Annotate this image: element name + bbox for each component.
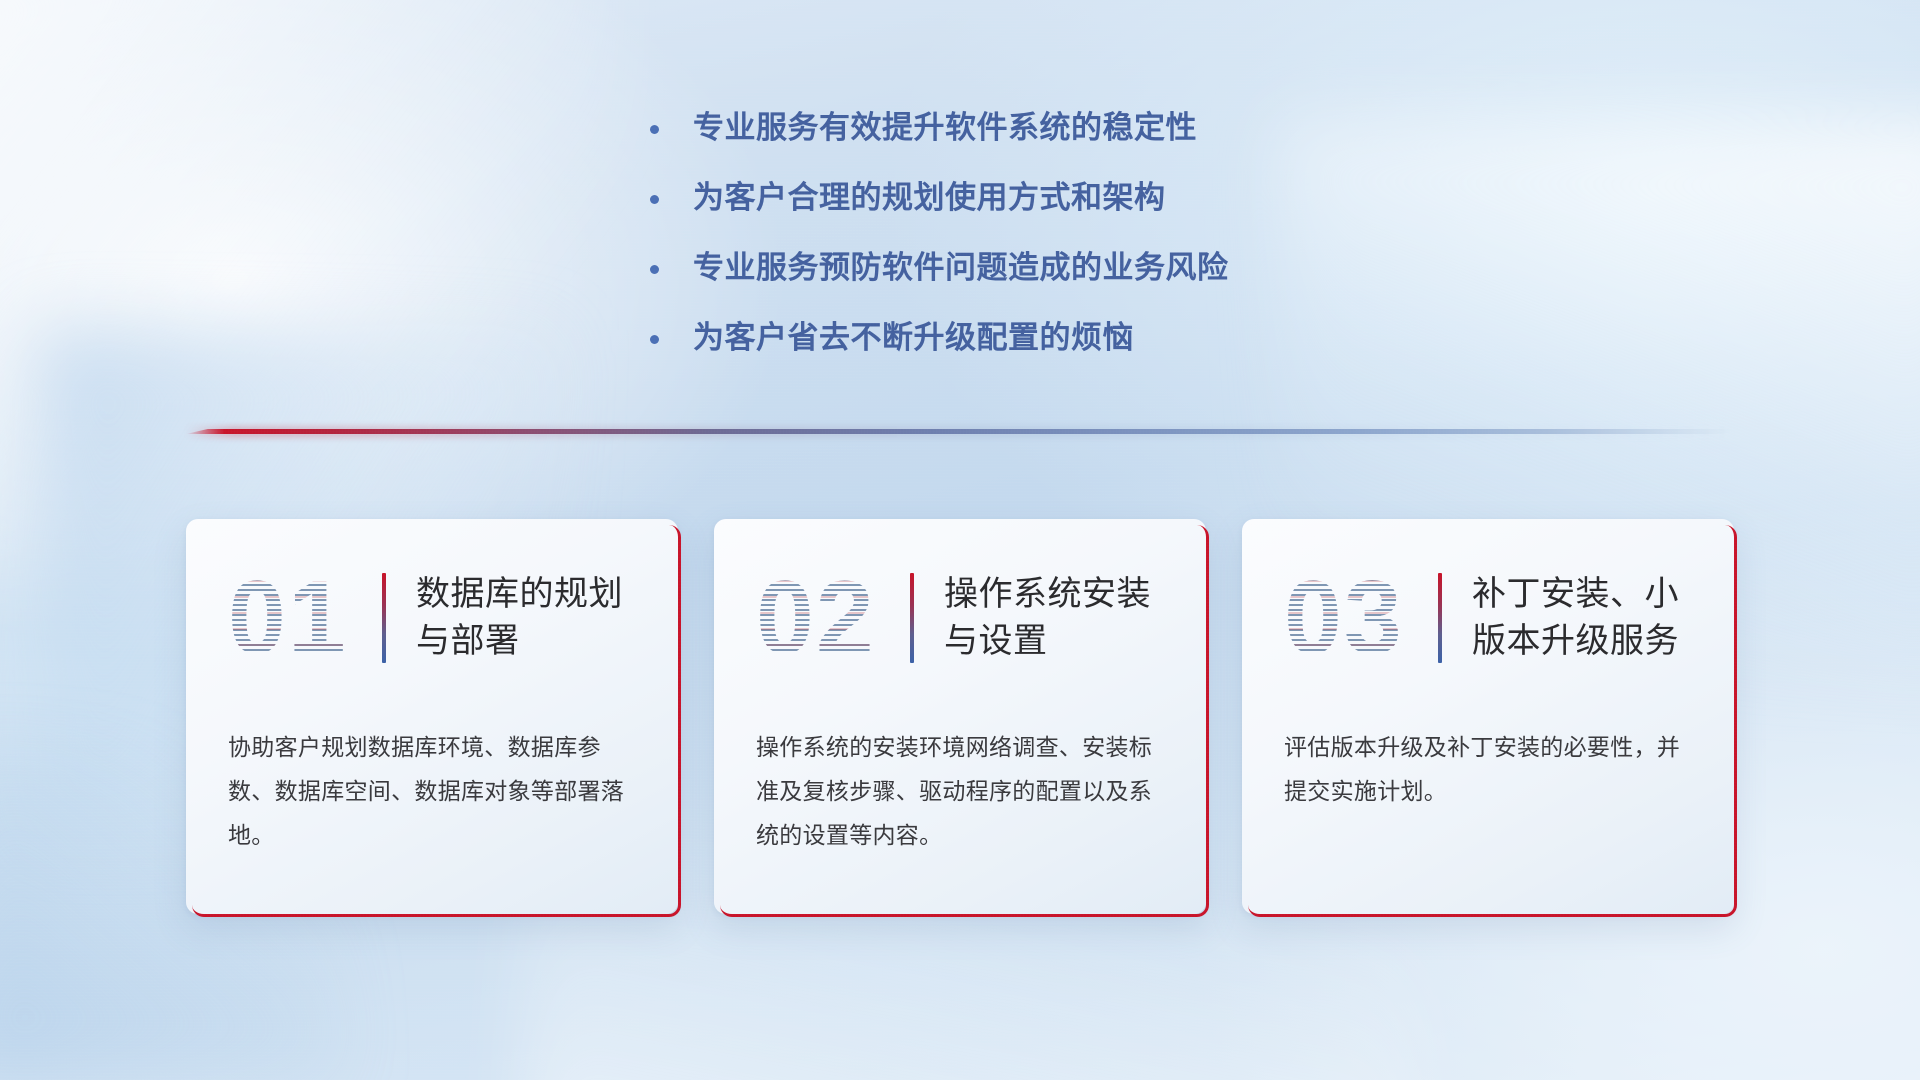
card-title: 补丁安装、小版本升级服务	[1472, 571, 1692, 665]
service-card-02[interactable]: 02 02 操作系统安装与设置 操作系统的安装环境网络调查、安装标准及复核步骤、…	[714, 519, 1206, 914]
card-number-tint: 01	[228, 564, 376, 672]
card-header: 02 02 操作系统安装与设置	[756, 559, 1164, 677]
card-description: 操作系统的安装环境网络调查、安装标准及复核步骤、驱动程序的配置以及系统的设置等内…	[756, 725, 1164, 857]
card-number-badge: 01 01	[228, 564, 376, 672]
bullet-dot-icon	[650, 335, 659, 344]
bullet-dot-icon	[650, 195, 659, 204]
card-header: 01 01 数据库的规划与部署	[228, 559, 636, 677]
bullet-list: 专业服务有效提升软件系统的稳定性 为客户合理的规划使用方式和架构 专业服务预防软…	[650, 108, 1470, 388]
card-title: 数据库的规划与部署	[416, 571, 636, 665]
card-number-badge: 03 03	[1284, 564, 1432, 672]
card-header: 03 03 补丁安装、小版本升级服务	[1284, 559, 1692, 677]
list-item: 专业服务预防软件问题造成的业务风险	[650, 248, 1470, 288]
service-card-03[interactable]: 03 03 补丁安装、小版本升级服务 评估版本升级及补丁安装的必要性，并提交实施…	[1242, 519, 1734, 914]
background-light-streak-top-left	[0, 0, 679, 580]
bullet-dot-icon	[650, 265, 659, 274]
bullet-text: 专业服务预防软件问题造成的业务风险	[693, 248, 1229, 288]
section-divider	[186, 424, 1732, 446]
bullet-text: 为客户省去不断升级配置的烦恼	[693, 318, 1134, 358]
card-title: 操作系统安装与设置	[944, 571, 1164, 665]
card-description: 评估版本升级及补丁安装的必要性，并提交实施计划。	[1284, 725, 1692, 813]
section-divider-line	[186, 429, 1732, 434]
card-row: 01 01 数据库的规划与部署 协助客户规划数据库环境、数据库参数、数据库空间、…	[186, 519, 1734, 919]
card-number-tint: 03	[1284, 564, 1432, 672]
slide-canvas: 专业服务有效提升软件系统的稳定性 为客户合理的规划使用方式和架构 专业服务预防软…	[0, 0, 1920, 1080]
card-title-divider	[910, 573, 914, 663]
list-item: 为客户省去不断升级配置的烦恼	[650, 318, 1470, 358]
card-number-tint: 02	[756, 564, 904, 672]
card-title-divider	[382, 573, 386, 663]
bullet-text: 专业服务有效提升软件系统的稳定性	[693, 108, 1197, 148]
list-item: 专业服务有效提升软件系统的稳定性	[650, 108, 1470, 148]
card-description: 协助客户规划数据库环境、数据库参数、数据库空间、数据库对象等部署落地。	[228, 725, 636, 857]
card-title-divider	[1438, 573, 1442, 663]
bullet-text: 为客户合理的规划使用方式和架构	[693, 178, 1166, 218]
service-card-01[interactable]: 01 01 数据库的规划与部署 协助客户规划数据库环境、数据库参数、数据库空间、…	[186, 519, 678, 914]
card-number-badge: 02 02	[756, 564, 904, 672]
list-item: 为客户合理的规划使用方式和架构	[650, 178, 1470, 218]
bullet-dot-icon	[650, 125, 659, 134]
